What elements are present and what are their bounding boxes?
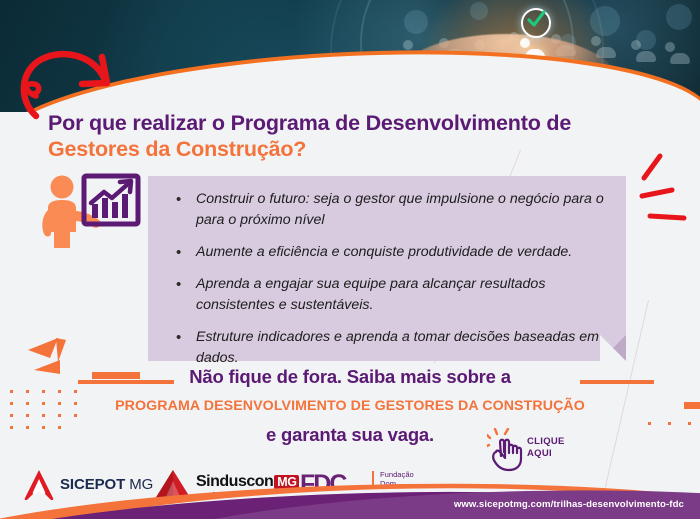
footer-url[interactable]: www.sicepotmg.com/trilhas-desenvolviment…	[454, 499, 684, 510]
list-item: • Estruture indicadores e aprenda a toma…	[170, 327, 606, 369]
page-title: Por que realizar o Programa de Desenvolv…	[48, 110, 648, 163]
bullet-dot-icon: •	[170, 327, 196, 369]
bokeh-dot	[404, 10, 428, 34]
person-presenting-chart-icon	[36, 170, 144, 254]
bullet-dot-icon: •	[170, 189, 196, 231]
bokeh-dot	[470, 2, 488, 20]
list-item-text: Estruture indicadores e aprenda a tomar …	[196, 327, 606, 369]
bullet-dot-icon: •	[170, 274, 196, 316]
cta-line-1: Não fique de fora. Saiba mais sobre a	[0, 366, 700, 388]
bokeh-dot	[590, 6, 620, 36]
benefits-box: • Construir o futuro: seja o gestor que …	[148, 176, 626, 361]
list-item-text: Construir o futuro: seja o gestor que im…	[196, 189, 606, 231]
corner-fold	[600, 335, 626, 361]
benefits-list: • Construir o futuro: seja o gestor que …	[170, 189, 606, 380]
list-item-text: Aumente a eficiência e conquiste produti…	[196, 242, 606, 263]
list-item: • Construir o futuro: seja o gestor que …	[170, 189, 606, 231]
click-here-label: CLIQUE AQUI	[527, 436, 565, 459]
bullet-dot-icon: •	[170, 242, 196, 263]
green-check-icon	[525, 9, 547, 31]
title-line-1: Por que realizar o Programa de Desenvolv…	[48, 110, 648, 136]
click-here-line-2: AQUI	[527, 448, 565, 460]
cta-line-3: e garanta sua vaga.	[0, 424, 700, 446]
title-line-2: Gestores da Construção?	[48, 136, 648, 163]
poster-canvas: Por que realizar o Programa de Desenvolv…	[0, 0, 700, 519]
red-accent-strokes	[636, 152, 698, 236]
footer-wave: www.sicepotmg.com/trilhas-desenvolviment…	[0, 467, 700, 519]
cta-line-2: PROGRAMA DESENVOLVIMENTO DE GESTORES DA …	[0, 398, 700, 414]
list-item-text: Aprenda a engajar sua equipe para alcanç…	[196, 274, 606, 316]
click-here-line-1: CLIQUE	[527, 436, 565, 448]
list-item: • Aprenda a engajar sua equipe para alca…	[170, 274, 606, 316]
hand-drawn-red-arrow-icon	[14, 44, 118, 120]
bokeh-dot	[666, 4, 692, 30]
list-item: • Aumente a eficiência e conquiste produ…	[170, 242, 606, 263]
